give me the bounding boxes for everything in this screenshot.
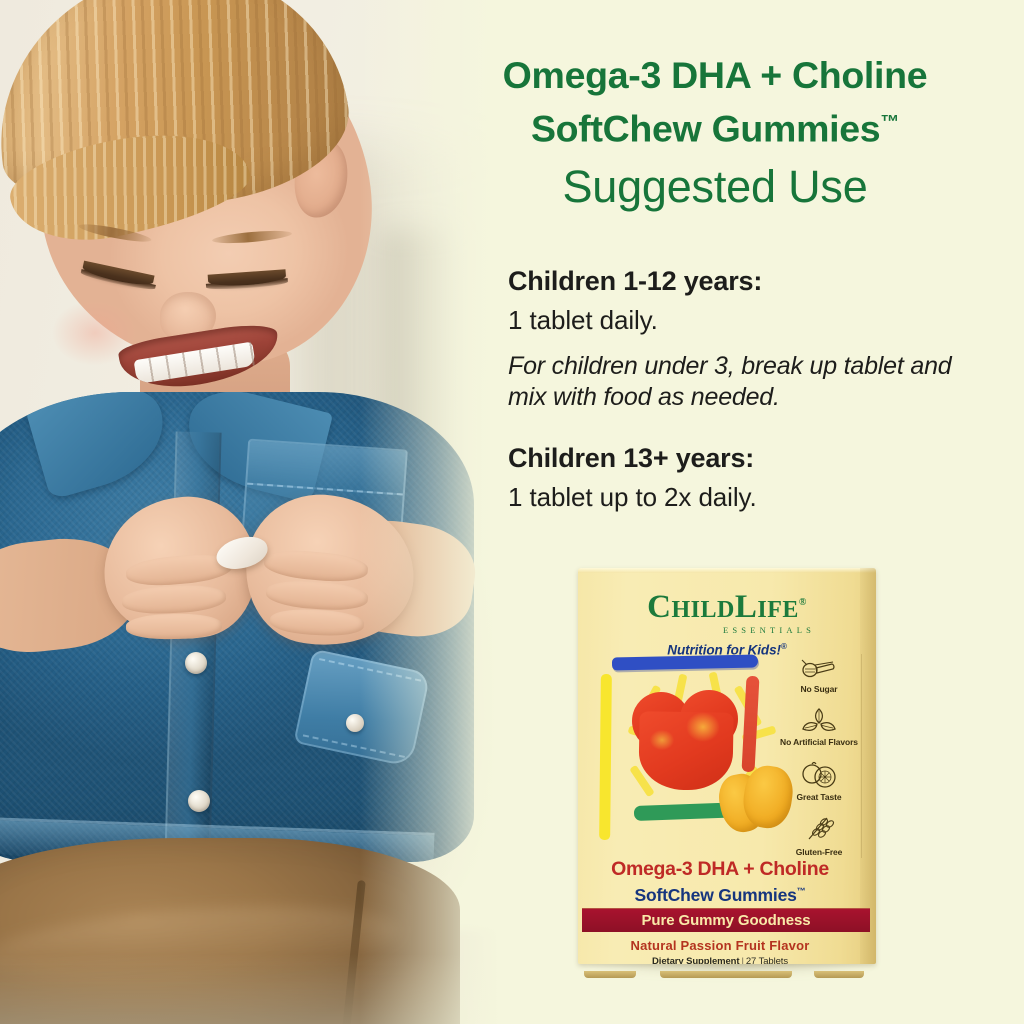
great-taste-icon	[798, 760, 840, 790]
badge-label: Great Taste	[780, 792, 858, 802]
badge-no-sugar: No Sugar	[780, 656, 858, 694]
package-title-line1: Omega-3 DHA + Choline	[578, 858, 862, 880]
artwork-yellow-stroke	[599, 674, 612, 840]
package-flap	[584, 971, 636, 978]
package-bottom-flaps	[578, 970, 876, 980]
usage-group2-heading: Children 13+ years:	[508, 441, 988, 475]
usage-group1-note: For children under 3, break up tablet an…	[508, 351, 988, 413]
usage-spacer	[508, 413, 988, 441]
photo-right-fade	[0, 0, 500, 1024]
headline-suggested-use: Suggested Use	[430, 157, 1000, 217]
suggested-use-block: Children 1-12 years: 1 tablet daily. For…	[508, 264, 988, 514]
product-package: CHILDLIFE® ESSENTIALS Nutrition for Kids…	[566, 560, 896, 980]
trademark-symbol: ™	[797, 886, 806, 896]
trademark-symbol: ™	[880, 112, 899, 133]
headline-line2-text: SoftChew Gummies	[531, 108, 880, 150]
brand-l: L	[735, 589, 758, 625]
package-claim-badges: No Sugar No Artificial Flavors	[780, 656, 858, 870]
heart-highlight	[686, 712, 720, 742]
photo-bottom-fade	[0, 954, 500, 1024]
gluten-free-icon	[797, 815, 841, 845]
heart-highlight	[650, 730, 674, 750]
brand-ife: IFE	[757, 597, 799, 623]
brand-logo-childlife: CHILDLIFE®	[647, 586, 807, 627]
package-product-title: Omega-3 DHA + Choline SoftChew Gummies™	[578, 858, 862, 905]
package-title-line2: SoftChew Gummies™	[578, 881, 862, 905]
headline-product-line2: SoftChew Gummies™	[430, 99, 1000, 153]
badge-gluten-free: Gluten-Free	[780, 815, 858, 857]
badge-no-artificial-flavors: No Artificial Flavors	[780, 707, 858, 747]
package-tagline-band: Pure Gummy Goodness	[582, 908, 870, 932]
package-top-edge	[578, 568, 876, 573]
package-badge-divider	[861, 654, 862, 858]
no-artificial-flavors-icon	[797, 707, 841, 735]
headline-product-line1: Omega-3 DHA + Choline	[430, 52, 1000, 99]
package-footer: Dietary Supplement|27 Tablets	[578, 956, 862, 964]
registered-mark-icon: ®	[781, 642, 787, 651]
badge-label: No Sugar	[780, 684, 858, 694]
badge-label: Gluten-Free	[780, 847, 858, 857]
package-child-artwork	[594, 654, 792, 844]
package-band-text: Pure Gummy Goodness	[642, 912, 811, 929]
artwork-heart-icon	[632, 690, 740, 790]
registered-mark-icon: ®	[799, 597, 807, 608]
headline-block: Omega-3 DHA + Choline SoftChew Gummies™ …	[430, 52, 1000, 217]
package-supplement-type: Dietary Supplement	[652, 956, 739, 964]
package-flap	[660, 971, 792, 978]
brand-c: C	[647, 589, 671, 625]
usage-group1-heading: Children 1-12 years:	[508, 264, 988, 298]
marketing-image-canvas: Omega-3 DHA + Choline SoftChew Gummies™ …	[0, 0, 1024, 1024]
brand-block: CHILDLIFE® ESSENTIALS Nutrition for Kids…	[578, 586, 876, 658]
package-tablet-count: 27 Tablets	[746, 956, 788, 964]
package-title-line2-text: SoftChew Gummies	[635, 885, 797, 905]
package-flavor-text: Natural Passion Fruit Flavor	[578, 938, 862, 953]
brand-hild: HILD	[671, 597, 734, 623]
usage-group2-dose: 1 tablet up to 2x daily.	[508, 480, 988, 514]
product-lifestyle-photo	[0, 0, 500, 1024]
usage-group1-dose: 1 tablet daily.	[508, 303, 988, 337]
no-sugar-icon	[799, 656, 839, 682]
badge-label: No Artificial Flavors	[780, 737, 858, 747]
badge-great-taste: Great Taste	[780, 760, 858, 802]
package-front-face: CHILDLIFE® ESSENTIALS Nutrition for Kids…	[578, 568, 876, 964]
package-flap	[814, 971, 864, 978]
package-footer-separator: |	[741, 956, 743, 964]
